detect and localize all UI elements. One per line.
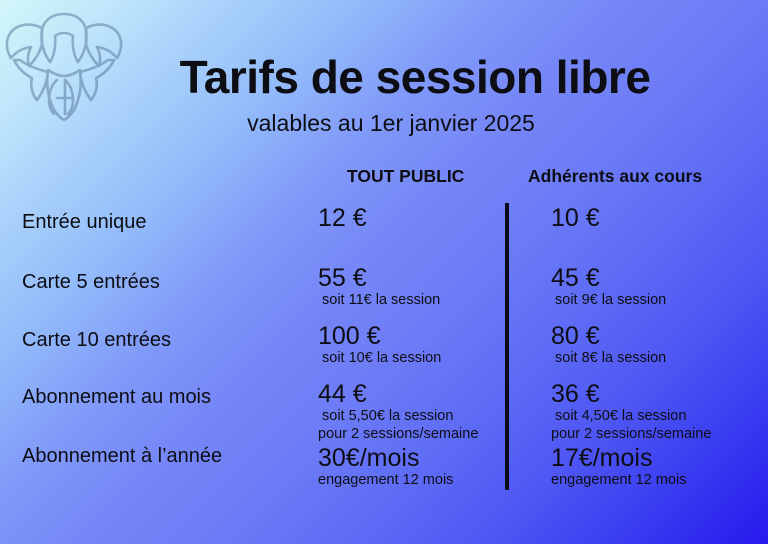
price-value: 10 € (551, 205, 600, 231)
price-note: pour 2 sessions/semaine (318, 425, 478, 443)
table-cell: 100 € soit 10€ la session (318, 323, 441, 367)
row-label: Carte 5 entrées (22, 271, 160, 294)
price-value: 80 € (551, 323, 666, 349)
price-value: 12 € (318, 205, 367, 231)
table-cell: 30€/mois engagement 12 mois (318, 445, 453, 489)
price-note: engagement 12 mois (318, 471, 453, 489)
table-cell: 55 € soit 11€ la session (318, 265, 440, 309)
table-cell: 80 € soit 8€ la session (551, 323, 666, 367)
price-note: soit 11€ la session (318, 291, 440, 309)
table-cell: 36 € soit 4,50€ la session pour 2 sessio… (551, 381, 711, 444)
pricing-table: Entrée unique 12 € 10 € Carte 5 entrées … (0, 0, 768, 544)
price-value: 44 € (318, 381, 478, 407)
price-note: soit 4,50€ la session (551, 407, 711, 425)
table-cell: 12 € (318, 205, 367, 231)
table-cell: 17€/mois engagement 12 mois (551, 445, 686, 489)
price-note: soit 9€ la session (551, 291, 666, 309)
table-cell: 45 € soit 9€ la session (551, 265, 666, 309)
row-label: Entrée unique (22, 211, 147, 234)
price-note: soit 5,50€ la session (318, 407, 478, 425)
price-value: 45 € (551, 265, 666, 291)
price-value: 55 € (318, 265, 440, 291)
price-value: 36 € (551, 381, 711, 407)
table-cell: 10 € (551, 205, 600, 231)
row-label: Abonnement au mois (22, 386, 211, 409)
price-value: 100 € (318, 323, 441, 349)
price-value: 30€/mois (318, 445, 453, 471)
price-note: soit 8€ la session (551, 349, 666, 367)
price-value: 17€/mois (551, 445, 686, 471)
price-note: pour 2 sessions/semaine (551, 425, 711, 443)
pricing-poster: Tarifs de session libre valables au 1er … (0, 0, 768, 544)
row-label: Abonnement à l’année (22, 445, 222, 468)
price-note: soit 10€ la session (318, 349, 441, 367)
table-cell: 44 € soit 5,50€ la session pour 2 sessio… (318, 381, 478, 444)
price-note: engagement 12 mois (551, 471, 686, 489)
row-label: Carte 10 entrées (22, 329, 171, 352)
